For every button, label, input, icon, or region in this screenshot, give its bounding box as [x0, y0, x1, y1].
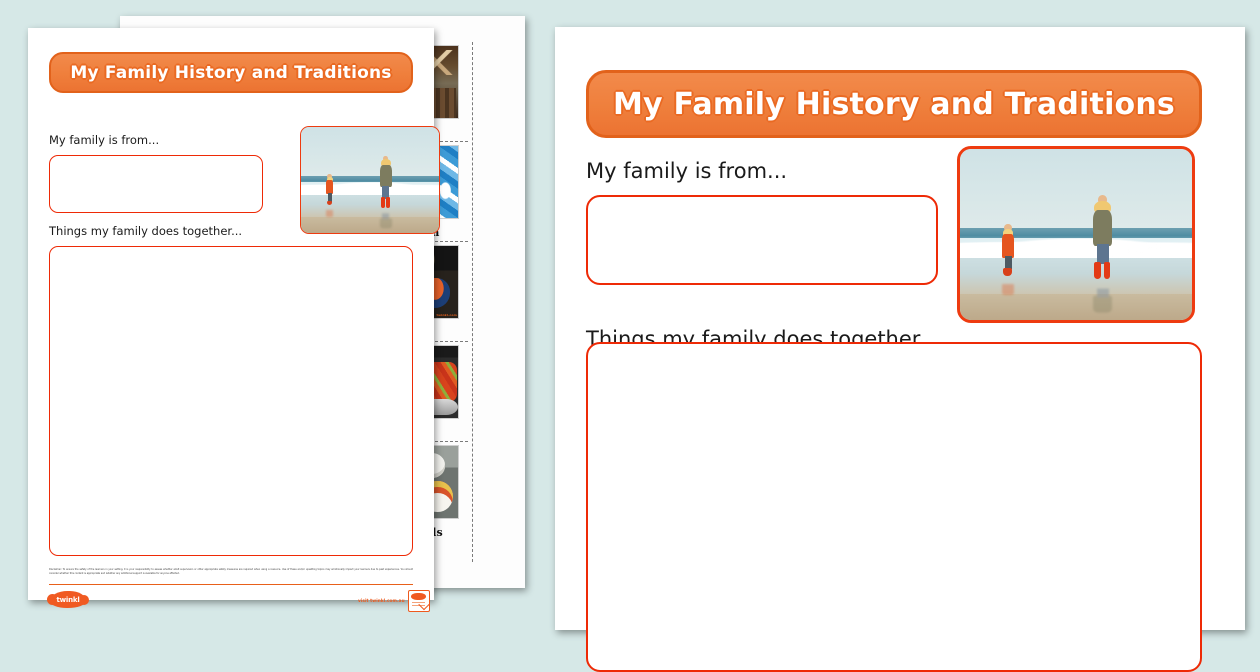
answer-box-activities[interactable] [49, 246, 413, 556]
preview-page-title: My Family History and Traditions [613, 87, 1175, 122]
disclaimer-text: Disclaimer: To ensure the safety of the … [49, 568, 413, 575]
twinkl-logo[interactable]: twinkl [50, 591, 86, 608]
worksheet-preview-right[interactable]: My Family History and Traditions My fami… [555, 27, 1245, 630]
field-label-activities: Things my family does together... [49, 224, 242, 238]
preview-title-banner: My Family History and Traditions [586, 70, 1202, 138]
preview-answer-box-activities[interactable] [586, 342, 1202, 672]
document-stack-left: rch tian twinkl.com ali ry rolls [0, 0, 545, 630]
twinkl-logo-text: twinkl [56, 596, 79, 604]
footer-divider [49, 584, 413, 585]
watermark-text: twinkl.com [437, 313, 458, 317]
preview-answer-box-origin[interactable] [586, 195, 938, 285]
beach-walk-photo [300, 126, 440, 234]
worksheet-page-front[interactable]: My Family History and Traditions My fami… [28, 28, 434, 600]
page-title: My Family History and Traditions [70, 63, 391, 83]
preview-beach-walk-photo [957, 146, 1195, 323]
answer-box-origin[interactable] [49, 155, 263, 213]
worksheet-title-banner: My Family History and Traditions [49, 52, 413, 93]
twinkl-seal-badge [408, 590, 430, 612]
preview-field-label-origin: My family is from... [586, 159, 787, 183]
visit-url-link[interactable]: visit twinkl.com.au [358, 598, 405, 603]
field-label-origin: My family is from... [49, 133, 159, 147]
